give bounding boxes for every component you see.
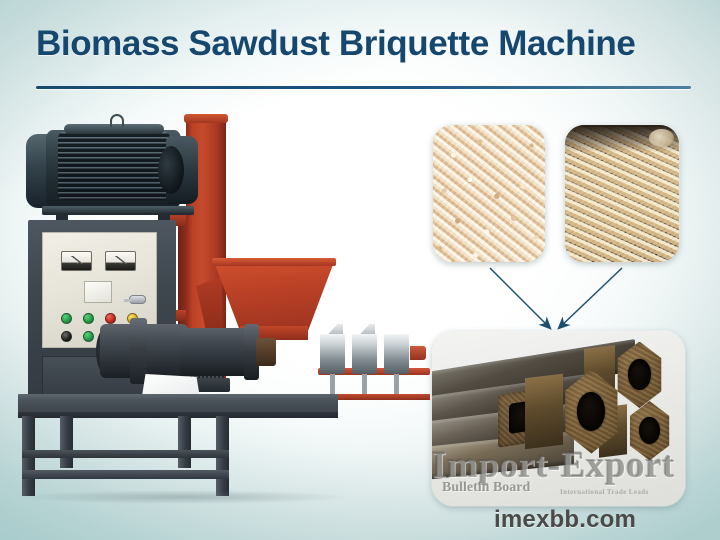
arrows-svg (432, 262, 685, 337)
frame-leg-3 (178, 416, 191, 468)
key-switch[interactable] (129, 295, 146, 304)
raw-material-rice-husk-photo (565, 125, 679, 262)
extruder-die-head (256, 338, 276, 366)
motor-shaft-hub (158, 146, 184, 194)
frame-cross-beam-lower (22, 470, 229, 479)
indicator-lamp-green-1[interactable] (61, 313, 72, 324)
cooling-block-1 (320, 334, 345, 374)
rice-husk-texture (565, 125, 679, 262)
push-button-selector[interactable] (61, 331, 72, 342)
slide-canvas: Biomass Sawdust Briquette Machine (0, 0, 720, 540)
cooling-block-2 (352, 334, 377, 374)
voltmeter-gauge (105, 251, 136, 271)
push-button-start[interactable] (83, 331, 94, 342)
indicator-lamp-red-1[interactable] (105, 313, 116, 324)
watermark-domain: imexbb.com (494, 506, 636, 534)
belt-guard-cap (184, 114, 228, 123)
discharge-outlet-tube (410, 346, 426, 360)
briquette-hex-main-hole (577, 392, 605, 431)
raw-material-sawdust-photo (433, 125, 545, 262)
frame-cross-beam-upper (22, 450, 229, 458)
feed-hopper-lip (212, 258, 336, 266)
extruder-barrel-front (180, 328, 252, 376)
header: Biomass Sawdust Briquette Machine (0, 0, 720, 100)
briquette-machine-photo (18, 112, 418, 487)
title-underline (36, 86, 691, 89)
indicator-lamp-green-2[interactable] (83, 313, 94, 324)
relay-box (84, 281, 112, 303)
frame-leg-2 (60, 416, 73, 468)
finished-briquette-photo (432, 331, 685, 506)
extruder-flange-1 (130, 318, 147, 384)
briquette-hex-main (561, 370, 622, 454)
sawdust-texture (433, 125, 545, 262)
process-flow-arrows (432, 262, 685, 337)
briquette-hex-upper (614, 342, 665, 409)
arrow-left (490, 268, 550, 328)
feed-hopper (214, 262, 334, 332)
briquette-hex-upper-hole (628, 359, 651, 390)
briquette-hex-main-body (525, 374, 563, 449)
motor-lifting-eye (110, 114, 124, 127)
ammeter-gauge (61, 251, 92, 271)
machine-ground-shadow (18, 490, 348, 504)
page-title: Biomass Sawdust Briquette Machine (36, 24, 635, 64)
motor-cooling-fins (58, 132, 170, 200)
arrow-right (559, 268, 622, 328)
briquette-scene (432, 331, 685, 506)
cooling-block-3 (384, 334, 409, 374)
briquette-hex-right (627, 401, 673, 461)
